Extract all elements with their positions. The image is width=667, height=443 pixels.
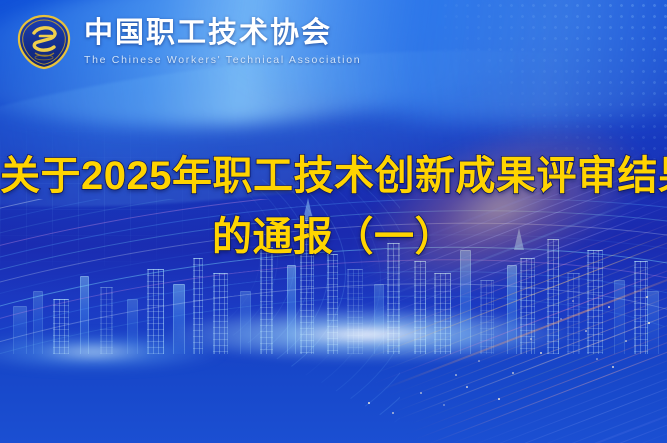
- poster-title-line1: 关于2025年职工技术创新成果评审结果: [0, 154, 667, 198]
- skyline-building: [434, 273, 451, 355]
- warm-ray-line: [278, 310, 667, 443]
- warm-ray-line: [266, 278, 667, 443]
- sparkle-speck: [443, 404, 445, 406]
- light-stream-arc: [0, 247, 667, 443]
- skyline-building: [147, 269, 164, 355]
- association-logo: [16, 13, 72, 71]
- warm-ray-line: [281, 318, 667, 443]
- warm-ray-line: [272, 294, 667, 443]
- sparkle-speck: [498, 398, 500, 400]
- sparkle-speck: [392, 412, 394, 414]
- sparkle-speck: [530, 338, 532, 340]
- skyline-building: [480, 280, 494, 354]
- sparkle-speck: [608, 306, 610, 308]
- warm-ray-line: [260, 263, 667, 437]
- skyline-building: [213, 273, 228, 355]
- horizon-glow: [160, 306, 574, 364]
- organization-name-en: The Chinese Workers' Technical Associati…: [84, 54, 361, 66]
- skyline-building: [614, 280, 625, 354]
- warm-ray-line: [285, 326, 667, 443]
- warm-ray-line: [288, 334, 667, 443]
- warm-ray-line: [269, 286, 667, 443]
- organization-name-cn: 中国职工技术协会: [84, 18, 361, 48]
- sparkle-speck: [612, 366, 614, 368]
- skyline-building: [414, 261, 426, 354]
- skyline-building: [567, 273, 580, 355]
- skyline-building: [374, 284, 384, 355]
- skyline-building: [100, 287, 113, 354]
- sparkle-speck: [540, 352, 542, 354]
- horizon-glow-left: [0, 332, 227, 372]
- sparkle-speck: [420, 392, 422, 394]
- sparkle-speck: [648, 322, 650, 324]
- sparkle-speck: [478, 360, 480, 362]
- sparkle-speck: [560, 318, 562, 320]
- skyline-building: [33, 291, 43, 354]
- warm-ray-line: [306, 381, 667, 443]
- sparkle-speck: [455, 374, 457, 376]
- skyline-building: [647, 291, 659, 354]
- sparkle-speck: [368, 402, 370, 404]
- warm-ray-line: [263, 271, 667, 443]
- poster-canvas: 中国职工技术协会 The Chinese Workers' Technical …: [0, 0, 667, 443]
- warm-ray-line: [291, 342, 667, 443]
- sparkle-speck: [625, 340, 627, 342]
- skyline-building: [327, 254, 338, 354]
- skyline-building: [53, 299, 69, 355]
- warm-ray-line: [315, 405, 667, 443]
- warm-ray-line: [312, 397, 667, 443]
- sparkle-speck: [466, 386, 468, 388]
- sparkle-speck: [646, 296, 648, 298]
- skyline-building: [193, 258, 203, 355]
- header-text-group: 中国职工技术协会 The Chinese Workers' Technical …: [84, 18, 361, 66]
- warm-ray-line: [275, 302, 667, 443]
- warm-ray-line: [297, 358, 667, 443]
- warm-ray-line: [303, 373, 667, 443]
- skyline-building: [520, 258, 535, 355]
- skyline-building: [80, 276, 89, 354]
- warm-ray-line: [300, 366, 667, 443]
- skyline-building: [507, 265, 517, 354]
- skyline-building: [127, 299, 138, 355]
- skyline-building: [240, 291, 251, 354]
- sparkle-speck: [512, 372, 514, 374]
- sparkle-speck: [585, 330, 587, 332]
- skyline-building: [347, 269, 363, 355]
- poster-title: 关于2025年职工技术创新成果评审结果 的通报（一）: [0, 146, 667, 268]
- warm-ray-line: [294, 350, 667, 443]
- warm-ray-line: [254, 247, 667, 420]
- skyline-building: [634, 261, 648, 354]
- sparkle-speck: [596, 358, 598, 360]
- header-bar: 中国职工技术协会 The Chinese Workers' Technical …: [0, 0, 667, 84]
- skyline-building: [13, 306, 27, 354]
- warm-ray-line: [257, 255, 667, 428]
- skyline-building: [173, 284, 185, 355]
- poster-title-line2: 的通报（一）: [0, 207, 667, 268]
- skyline-building: [287, 265, 296, 354]
- sparkle-speck: [572, 300, 574, 302]
- warm-ray-line: [309, 389, 667, 443]
